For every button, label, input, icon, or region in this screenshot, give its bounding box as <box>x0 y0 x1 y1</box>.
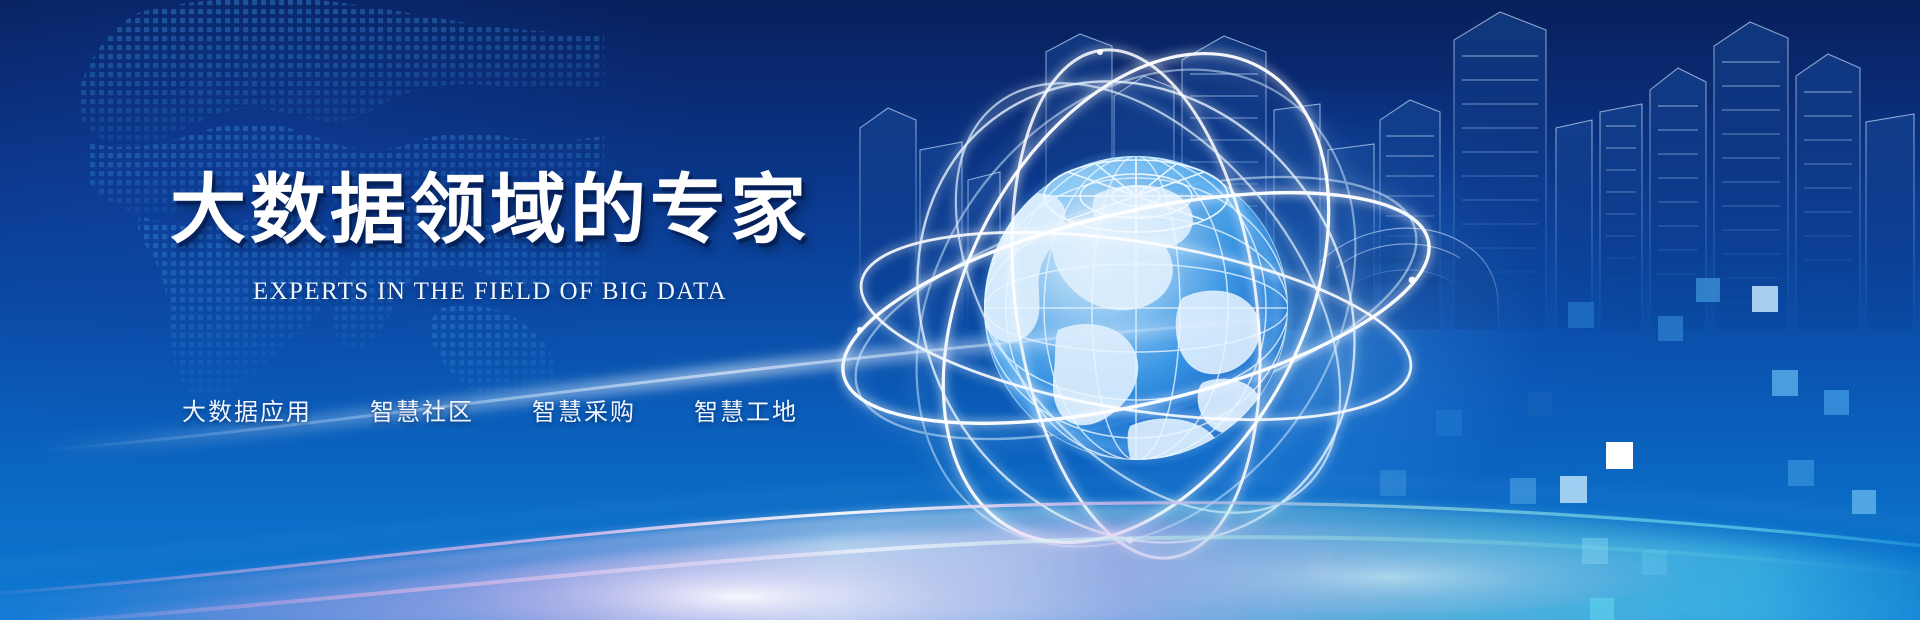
mosaic-square <box>1752 286 1778 312</box>
banner-content: 大数据领域的专家 EXPERTS IN THE FIELD OF BIG DAT… <box>0 0 980 620</box>
globe-glow <box>1010 90 1630 620</box>
mosaic-square <box>1590 598 1614 620</box>
mosaic-square <box>1380 470 1406 496</box>
page-title: 大数据领域的专家 <box>0 148 980 258</box>
mosaic-square <box>1642 550 1667 575</box>
banner-nav: 大数据应用 智慧社区 智慧采购 智慧工地 <box>0 392 980 427</box>
big-data-banner: 大数据领域的专家 EXPERTS IN THE FIELD OF BIG DAT… <box>0 0 1920 620</box>
mosaic-squares-icon <box>1400 250 1920 580</box>
mosaic-square <box>1568 302 1594 328</box>
mosaic-square <box>1510 478 1536 504</box>
city-skyline-icon <box>850 0 1920 330</box>
mosaic-square <box>1788 460 1814 486</box>
mosaic-square <box>1528 392 1552 416</box>
mosaic-square <box>1696 278 1720 302</box>
mosaic-square <box>1436 410 1462 436</box>
mosaic-square <box>1582 538 1608 564</box>
nav-item-smart-procurement[interactable]: 智慧采购 <box>532 392 636 427</box>
mosaic-square <box>1606 442 1633 469</box>
mosaic-square <box>1658 316 1683 341</box>
mosaic-square <box>1560 476 1587 503</box>
nav-item-smart-community[interactable]: 智慧社区 <box>370 392 474 427</box>
mosaic-square <box>1772 370 1798 396</box>
mosaic-square <box>1852 490 1876 514</box>
mosaic-square <box>1308 552 1333 577</box>
nav-item-smart-construction-site[interactable]: 智慧工地 <box>694 392 798 427</box>
mosaic-square <box>1824 390 1849 415</box>
nav-item-big-data-application[interactable]: 大数据应用 <box>182 392 312 427</box>
page-subtitle: EXPERTS IN THE FIELD OF BIG DATA <box>0 278 980 306</box>
